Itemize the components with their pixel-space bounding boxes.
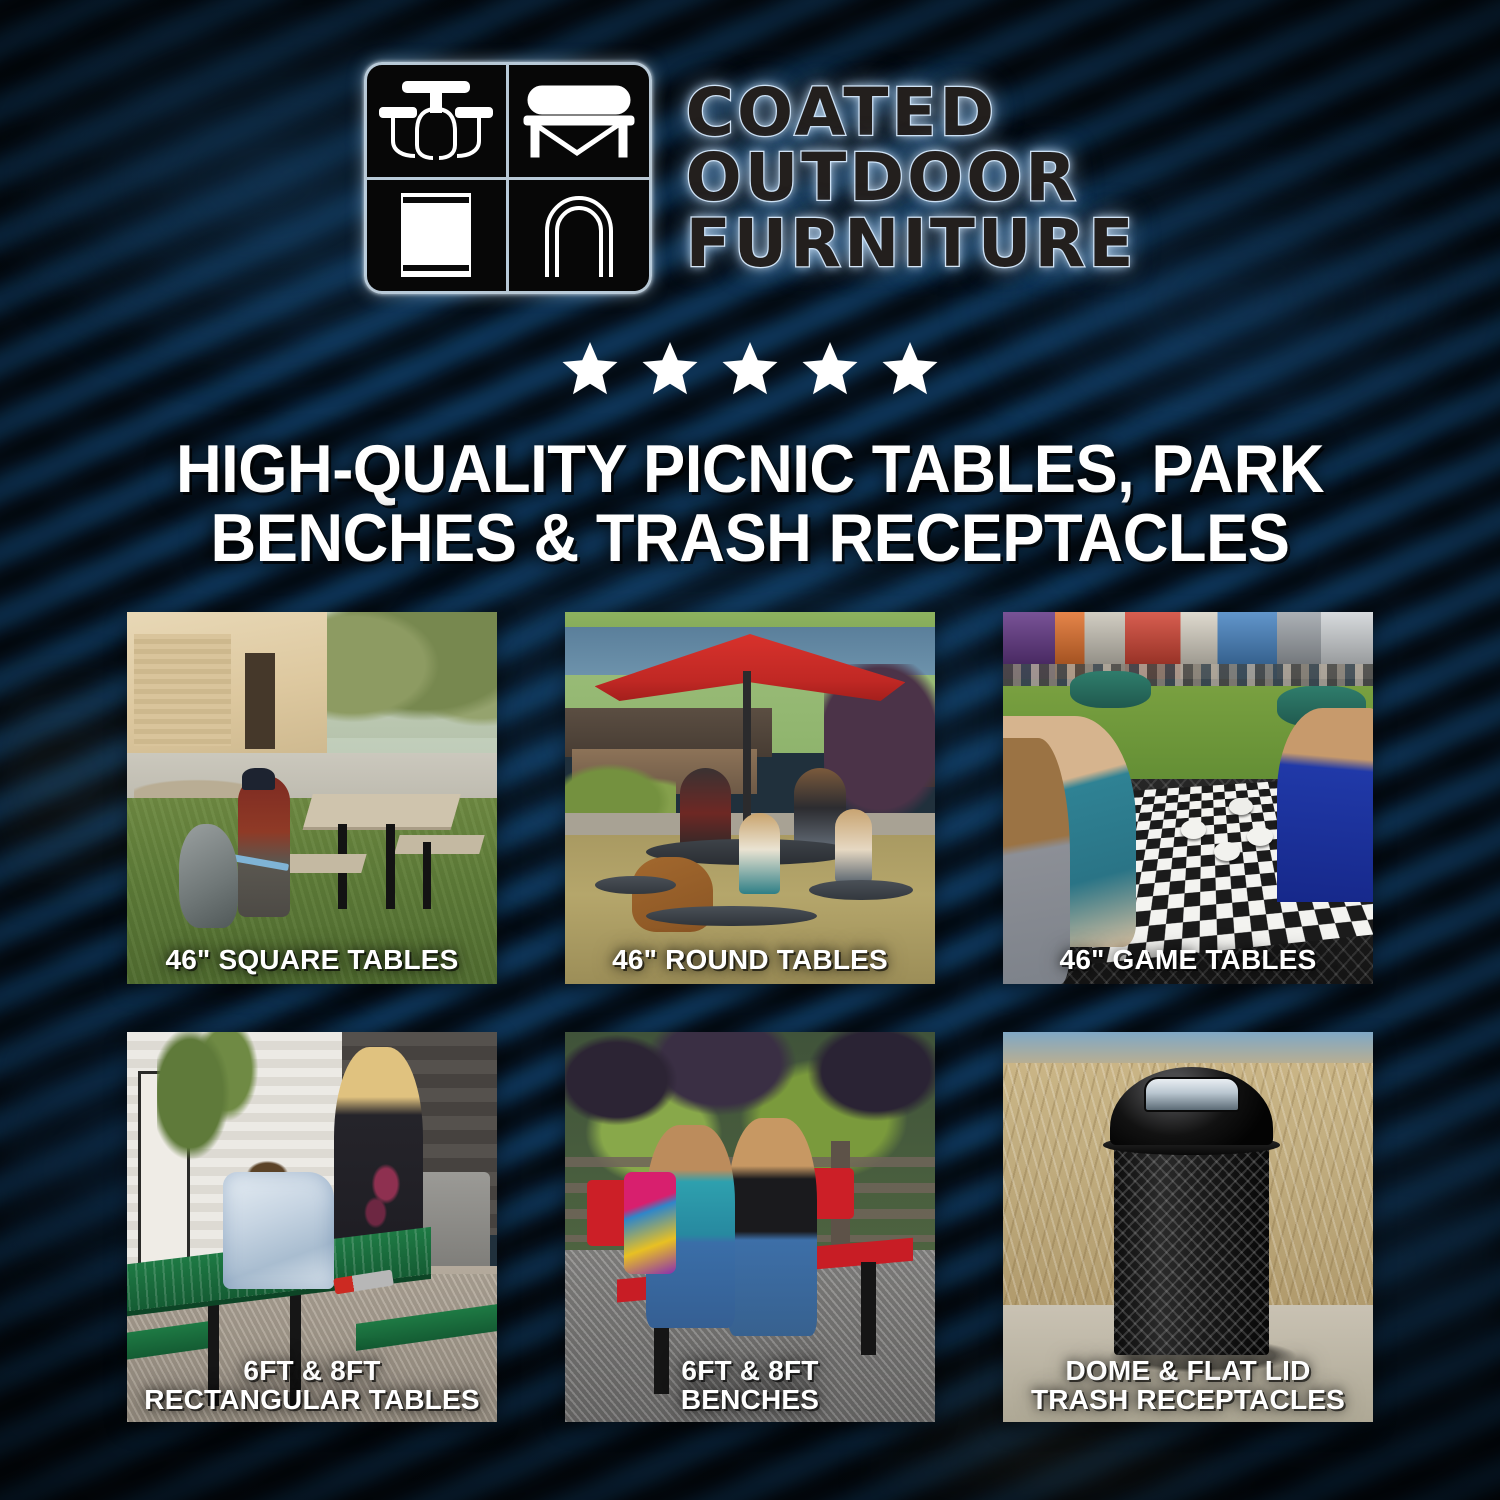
poster-root: COATED OUTDOOR FURNITURE HIGH-QUALITY PI… xyxy=(0,0,1500,1500)
tile-caption-rectangular-tables: 6FT & 8FT RECTANGULAR TABLES xyxy=(127,1356,497,1414)
star-icon xyxy=(879,338,941,403)
star-icon xyxy=(559,338,621,403)
caption-line-1: 6FT & 8FT xyxy=(133,1356,491,1385)
caption-line-1: 46" SQUARE TABLES xyxy=(133,945,491,974)
product-tile-rectangular-tables[interactable]: 6FT & 8FT RECTANGULAR TABLES xyxy=(127,1032,497,1422)
product-category-grid: 46" SQUARE TABLES xyxy=(127,612,1373,1422)
logo-cell-picnic-table xyxy=(367,65,507,177)
star-icon xyxy=(639,338,701,403)
logo-mark-grid[interactable] xyxy=(364,62,652,294)
logo-cell-bike-rack-arch xyxy=(509,180,649,292)
star-icon xyxy=(799,338,861,403)
brand-wordmark: COATED OUTDOOR FURNITURE xyxy=(686,81,1137,275)
caption-line-2: BENCHES xyxy=(571,1385,929,1414)
page-title: HIGH-QUALITY PICNIC TABLES, PARK BENCHES… xyxy=(150,435,1350,574)
product-photo-square-tables xyxy=(127,612,497,984)
logo-cell-trash-receptacle xyxy=(367,180,507,292)
product-tile-trash-receptacles[interactable]: DOME & FLAT LID TRASH RECEPTACLES xyxy=(1003,1032,1373,1422)
bench-icon xyxy=(519,75,639,167)
picnic-table-icon xyxy=(377,75,495,167)
caption-line-1: DOME & FLAT LID xyxy=(1009,1356,1367,1385)
caption-line-1: 46" ROUND TABLES xyxy=(571,945,929,974)
tile-caption-trash-receptacles: DOME & FLAT LID TRASH RECEPTACLES xyxy=(1003,1356,1373,1414)
headline-line-1: HIGH-QUALITY PICNIC TABLES, PARK xyxy=(150,435,1350,504)
brand-logo-lockup[interactable]: COATED OUTDOOR FURNITURE xyxy=(364,62,1137,294)
brand-line-2: OUTDOOR xyxy=(686,146,1137,209)
brand-line-3: FURNITURE xyxy=(686,212,1137,275)
product-photo-game-tables xyxy=(1003,612,1373,984)
star-rating xyxy=(559,338,941,403)
brand-line-1: COATED xyxy=(686,81,1137,144)
headline-line-2: BENCHES & TRASH RECEPTACLES xyxy=(150,504,1350,573)
caption-line-1: 46" GAME TABLES xyxy=(1009,945,1367,974)
product-tile-benches[interactable]: 6FT & 8FT BENCHES xyxy=(565,1032,935,1422)
logo-cell-bench xyxy=(509,65,649,177)
bike-rack-arch-icon xyxy=(533,187,625,283)
product-tile-round-tables[interactable]: 46" ROUND TABLES xyxy=(565,612,935,984)
star-icon xyxy=(719,338,781,403)
tile-caption-square-tables: 46" SQUARE TABLES xyxy=(127,945,497,974)
tile-caption-round-tables: 46" ROUND TABLES xyxy=(565,945,935,974)
caption-line-2: TRASH RECEPTACLES xyxy=(1009,1385,1367,1414)
caption-line-2: RECTANGULAR TABLES xyxy=(133,1385,491,1414)
caption-line-1: 6FT & 8FT xyxy=(571,1356,929,1385)
product-tile-game-tables[interactable]: 46" GAME TABLES xyxy=(1003,612,1373,984)
trash-receptacle-icon xyxy=(393,187,479,283)
tile-caption-game-tables: 46" GAME TABLES xyxy=(1003,945,1373,974)
product-tile-square-tables[interactable]: 46" SQUARE TABLES xyxy=(127,612,497,984)
tile-caption-benches: 6FT & 8FT BENCHES xyxy=(565,1356,935,1414)
product-photo-round-tables xyxy=(565,612,935,984)
